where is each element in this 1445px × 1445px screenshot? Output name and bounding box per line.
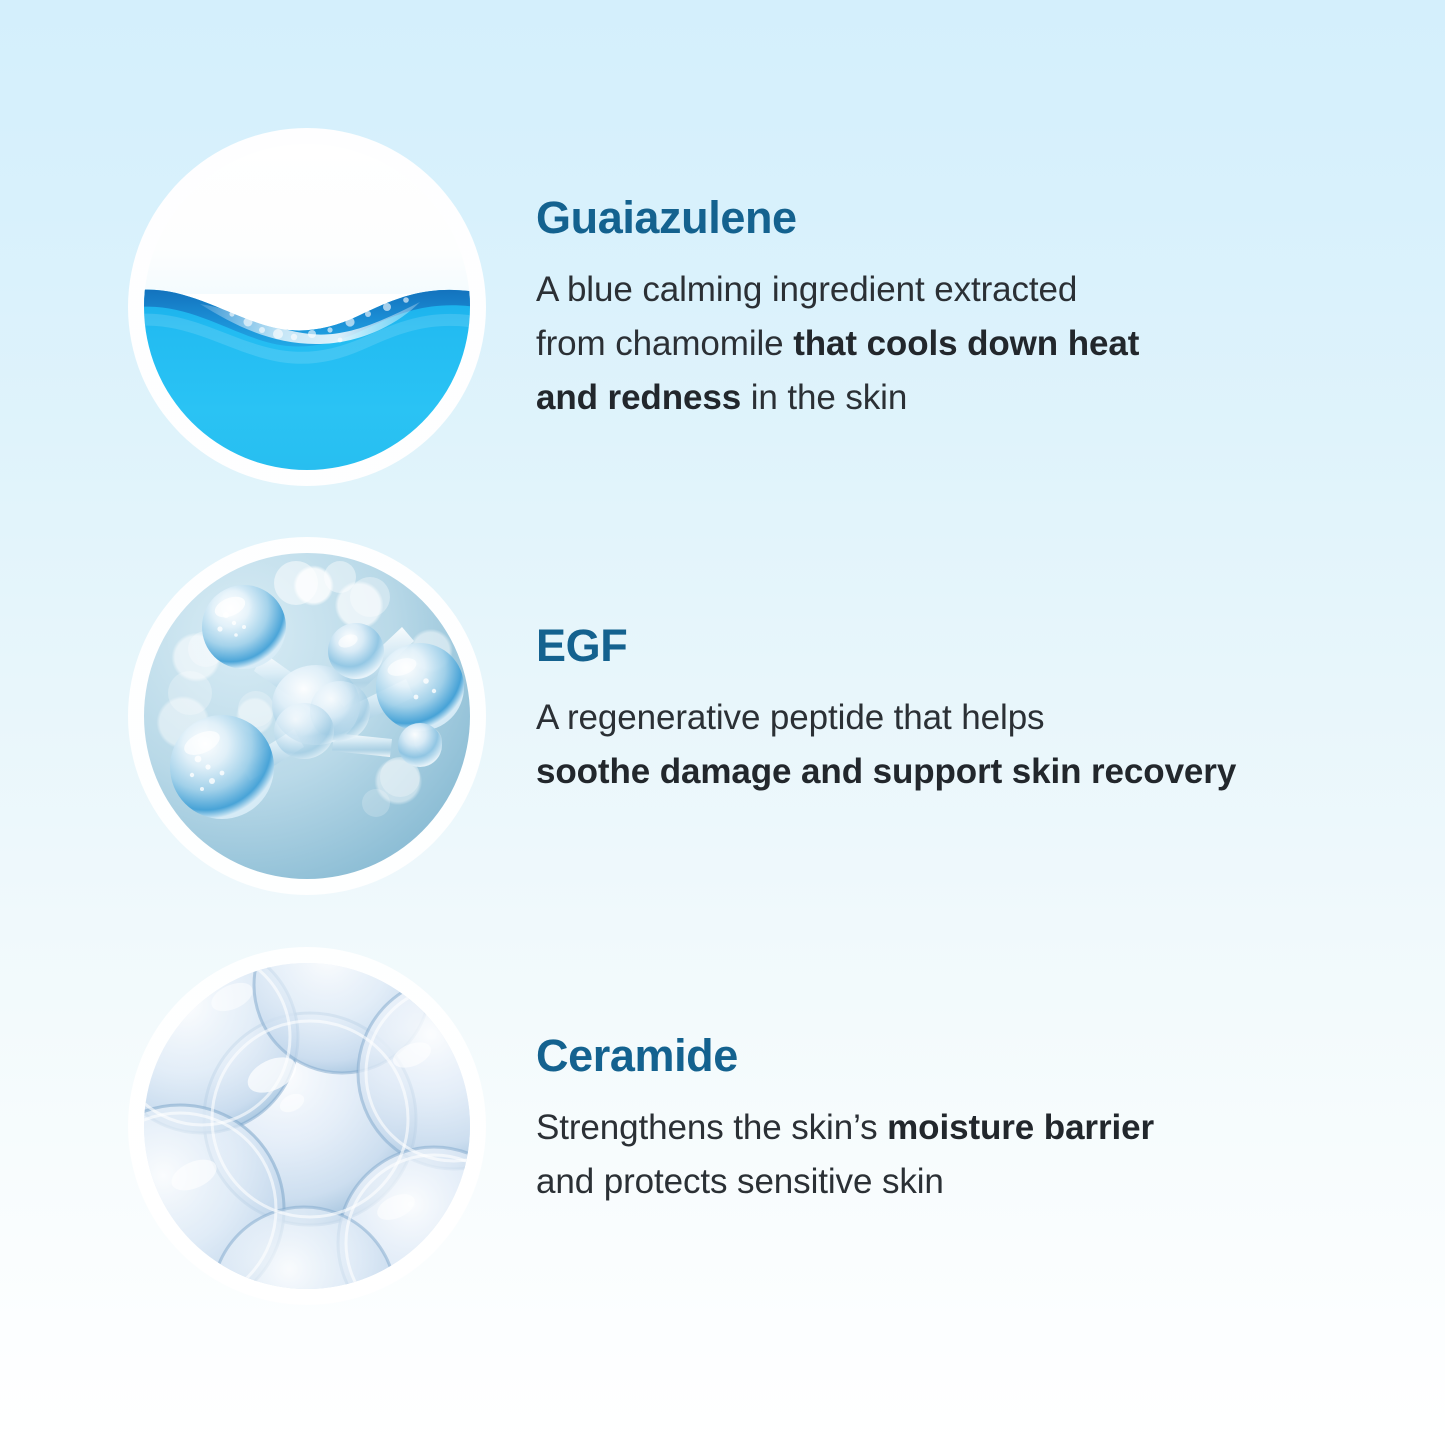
molecule-atom — [376, 643, 464, 731]
bubbles-graphic — [144, 963, 470, 1289]
molecule-atom — [170, 715, 274, 819]
ingredient-description: A blue calming ingredient extractedfrom … — [536, 263, 1336, 426]
ingredient-heading: Ceramide — [536, 1032, 1336, 1081]
image-clip — [144, 553, 470, 879]
description-line: and protects sensitive skin — [536, 1155, 1336, 1209]
ingredient-text-ceramide: Ceramide Strengthens the skin’s moisture… — [536, 1032, 1336, 1209]
description-line: A blue calming ingredient extracted — [536, 263, 1336, 317]
emphasis-text: moisture barrier — [887, 1108, 1154, 1147]
emphasis-text: soothe damage and support skin recovery — [536, 752, 1236, 791]
molecule-atom — [398, 723, 442, 767]
description-line: Strengthens the skin’s moisture barrier — [536, 1101, 1336, 1155]
molecule-atom — [328, 623, 384, 679]
description-line: and redness in the skin — [536, 371, 1336, 425]
molecule-graphic — [144, 553, 470, 879]
ingredient-row-ceramide: Ceramide Strengthens the skin’s moisture… — [0, 963, 1445, 1293]
image-clip — [144, 144, 470, 470]
ingredient-row-egf: EGF A regenerative peptide that helpssoo… — [0, 553, 1445, 883]
plain-text: and protects sensitive skin — [536, 1162, 944, 1201]
description-line: soothe damage and support skin recovery — [536, 745, 1336, 799]
plain-text: in the skin — [741, 378, 907, 417]
ingredient-row-guaiazulene: Guaiazulene A blue calming ingredient ex… — [0, 144, 1445, 478]
ingredient-description: Strengthens the skin’s moisture barriera… — [536, 1101, 1336, 1210]
molecule-image — [144, 553, 470, 879]
description-line: A regenerative peptide that helps — [536, 691, 1336, 745]
ingredient-heading: EGF — [536, 622, 1336, 671]
plain-text: A blue calming ingredient extracted — [536, 270, 1077, 309]
bubbles-image — [144, 963, 470, 1289]
ingredient-description: A regenerative peptide that helpssoothe … — [536, 691, 1336, 800]
emphasis-text: that cools down heat — [793, 324, 1139, 363]
ingredient-heading: Guaiazulene — [536, 194, 1336, 243]
emphasis-text: and redness — [536, 378, 741, 417]
water-graphic — [144, 144, 470, 470]
image-clip — [144, 963, 470, 1289]
description-line: from chamomile that cools down heat — [536, 317, 1336, 371]
plain-text: from chamomile — [536, 324, 793, 363]
plain-text: A regenerative peptide that helps — [536, 698, 1044, 737]
water-surface-image — [144, 144, 470, 470]
infographic-board: Guaiazulene A blue calming ingredient ex… — [0, 0, 1445, 1445]
ingredient-text-guaiazulene: Guaiazulene A blue calming ingredient ex… — [536, 194, 1336, 425]
water-body — [144, 290, 470, 470]
ingredient-text-egf: EGF A regenerative peptide that helpssoo… — [536, 622, 1336, 799]
plain-text: Strengthens the skin’s — [536, 1108, 887, 1147]
